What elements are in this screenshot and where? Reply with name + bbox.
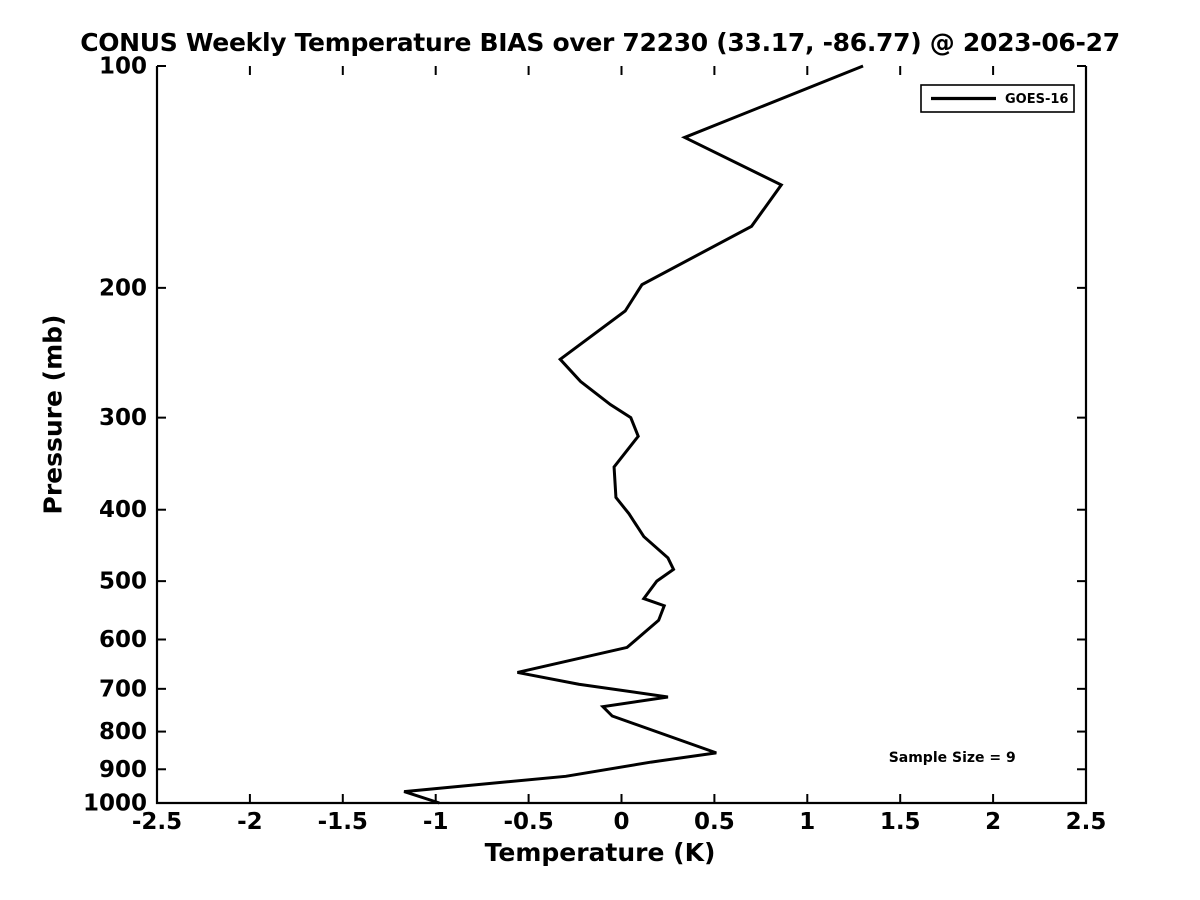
legend-label: GOES-16 [1005,92,1068,107]
y-axis-tick-label: 300 [99,405,147,431]
data-series-line-goes-16 [404,66,863,803]
y-axis-label: Pressure (mb) [39,285,68,545]
sample-size-annotation: Sample Size = 9 [889,750,1016,766]
x-axis-tick-label: 0 [613,809,629,835]
x-axis-tick-label: -1 [423,809,449,835]
y-axis-tick-label: 700 [99,676,147,702]
x-axis-tick-label: -1.5 [318,809,368,835]
y-axis-tick-label: 400 [99,497,147,523]
y-axis-tick-label: 200 [99,275,147,301]
x-axis-tick-label: 2.5 [1066,809,1107,835]
chart-root: CONUS Weekly Temperature BIAS over 72230… [0,0,1200,900]
x-axis-label: Temperature (K) [0,838,1200,867]
x-axis-tick-label: -0.5 [503,809,553,835]
x-axis-tick-label: 1.5 [880,809,921,835]
x-axis-tick-label: -2 [237,809,263,835]
y-axis-tick-label: 600 [99,627,147,653]
y-axis-tick-label: 900 [99,757,147,783]
y-axis-tick-label: 500 [99,569,147,595]
legend[interactable]: GOES-16 [921,85,1074,112]
x-axis-tick-label: -2.5 [132,809,182,835]
y-axis-tick-label: 100 [99,54,147,80]
y-axis-tick-label: 800 [99,719,147,745]
axes-frame [157,66,1086,803]
x-axis-tick-label: 1 [799,809,815,835]
temperature-bias-profile-plot: 1002003004005006007008009001000-2.5-2-1.… [0,0,1200,900]
x-axis-tick-label: 0.5 [694,809,735,835]
x-axis-tick-label: 2 [985,809,1001,835]
